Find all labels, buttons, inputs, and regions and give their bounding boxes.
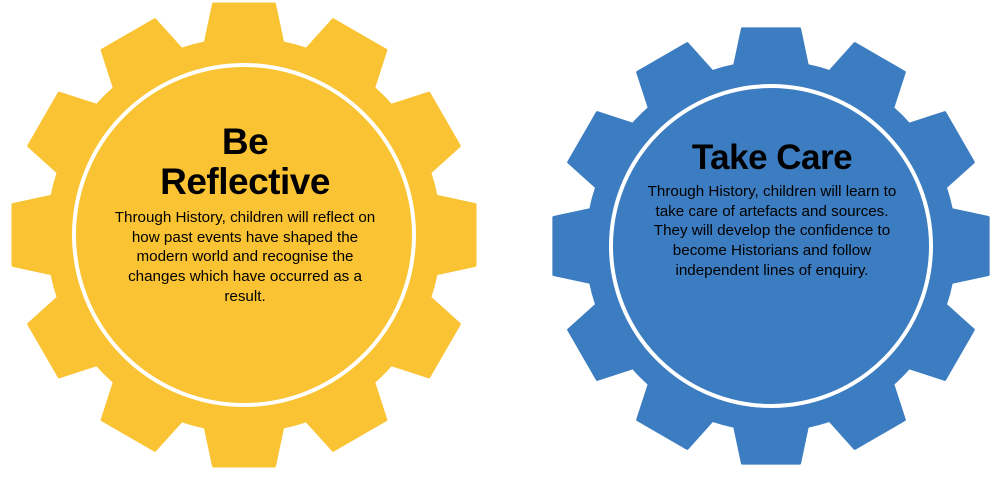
gear-heading-take-care: Take Care	[641, 139, 903, 177]
gear-text-block-take-care: Take Care Through History, children will…	[641, 139, 903, 281]
gear-body-take-care: Through History, children will learn to …	[641, 179, 903, 281]
infographic-canvas: Be Reflective Through History, children …	[0, 0, 999, 478]
